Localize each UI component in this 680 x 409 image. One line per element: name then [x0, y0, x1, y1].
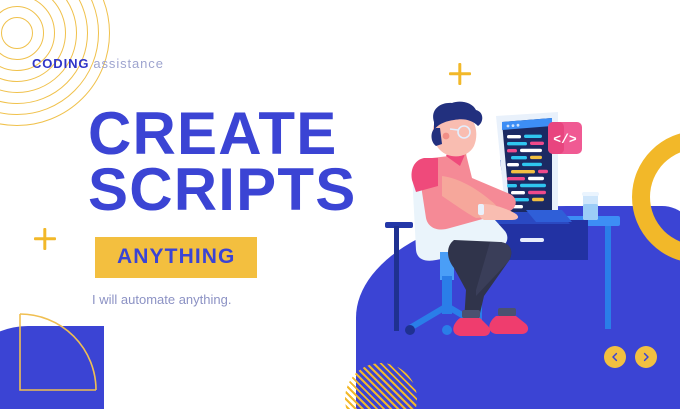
chair-wheel: [405, 325, 415, 335]
brand-logo: CODINGassistance: [32, 56, 164, 71]
headline-line-1: CREATE: [88, 106, 356, 162]
logo-light-text: assistance: [93, 56, 163, 71]
banner-canvas: CODINGassistance CREATE SCRIPTS ANYTHING…: [0, 0, 680, 409]
carousel-next-button[interactable]: [635, 346, 657, 368]
person-sleeve: [412, 158, 439, 192]
carousel-nav[interactable]: [604, 346, 657, 368]
pant-cuff-left: [462, 310, 480, 318]
shoe-right: [489, 316, 528, 334]
plus-decoration-top: [449, 63, 471, 85]
desk-leg-right: [605, 226, 611, 329]
person-ear: [443, 133, 450, 140]
chair-wheel: [442, 325, 452, 335]
eyeglasses-arm: [450, 129, 458, 130]
titlebar-dot: [507, 125, 510, 128]
water-level: [583, 204, 598, 220]
lamp-pole: [394, 226, 399, 331]
titlebar-dot: [512, 124, 515, 127]
developer-illustration: </>: [380, 100, 680, 360]
drawer-handle: [520, 238, 544, 242]
page-title: CREATE SCRIPTS: [88, 106, 356, 218]
subtitle-text: I will automate anything.: [92, 292, 231, 307]
gold-quarter-arc-decoration: [18, 312, 102, 396]
chevron-left-icon: [610, 352, 620, 362]
wristwatch: [478, 204, 484, 215]
glass-rim: [582, 192, 599, 196]
chevron-right-icon: [641, 352, 651, 362]
carousel-prev-button[interactable]: [604, 346, 626, 368]
highlight-badge: ANYTHING: [95, 237, 257, 278]
titlebar-dot: [517, 124, 520, 127]
shoe-left: [453, 318, 490, 336]
logo-bold-text: CODING: [32, 56, 89, 71]
headline-line-2: SCRIPTS: [88, 162, 356, 218]
plus-decoration-left: [34, 228, 56, 250]
pant-cuff-right: [498, 308, 516, 316]
code-badge-glyph: </>: [553, 132, 577, 147]
